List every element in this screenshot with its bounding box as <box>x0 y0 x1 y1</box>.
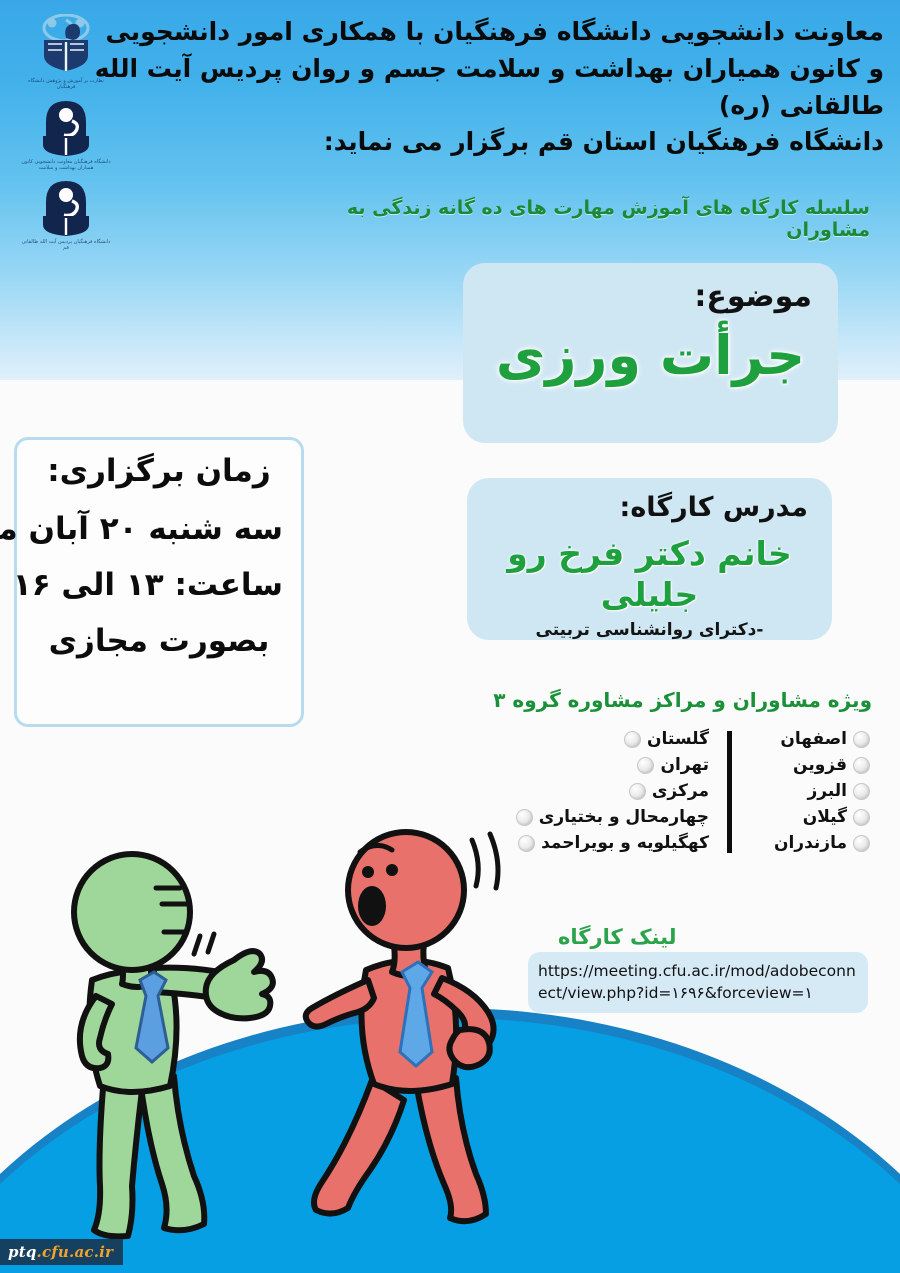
list-item: مازندران <box>750 831 870 855</box>
instructor-card: مدرس کارگاه: خانم دکتر فرخ رو جلیلی -دکت… <box>467 478 832 640</box>
list-item: قزوین <box>750 753 870 777</box>
poster-root: نظارت بر آموزش و پژوهش دانشگاه فرهنگیان … <box>0 0 900 1273</box>
red-person-shouting <box>290 820 550 1270</box>
instructor-degree: -دکترای روانشناسی تربیتی <box>491 620 808 640</box>
green-person-stop-gesture <box>28 840 318 1260</box>
cfu-arch-emblem-icon <box>39 99 93 157</box>
province-name: اصفهان <box>780 729 847 749</box>
header-announcement: معاونت دانشجویی دانشگاه فرهنگیان با همکا… <box>94 14 884 161</box>
header-line-1: معاونت دانشجویی دانشگاه فرهنگیان با همکا… <box>94 14 884 51</box>
list-item: کهگیلویه و بویراحمد <box>524 831 709 855</box>
bullet-circle-icon <box>853 783 870 800</box>
province-name: البرز <box>807 781 847 801</box>
bullet-circle-icon <box>853 757 870 774</box>
bullet-circle-icon <box>853 731 870 748</box>
province-name: قزوین <box>793 755 847 775</box>
header-line-3: دانشگاه فرهنگیان استان قم برگزار می نمای… <box>94 124 884 161</box>
topic-card: موضوع: جرأت ورزی <box>463 263 838 443</box>
bullet-circle-icon <box>624 731 641 748</box>
watermark-part-2: .cfu.ac.ir <box>37 1243 114 1261</box>
list-item: تهران <box>524 753 709 777</box>
list-item: البرز <box>750 779 870 803</box>
province-name: چهارمحال و بختیاری <box>539 807 709 827</box>
bullet-circle-icon <box>629 783 646 800</box>
logo-caption: دانشگاه فرهنگیان پردیس آیت الله طالقانی … <box>18 239 114 252</box>
province-name: گیلان <box>803 807 847 827</box>
instructor-label: مدرس کارگاه: <box>491 490 808 525</box>
schedule-label: زمان برگزاری: <box>35 454 283 488</box>
header-line-2: و کانون همیاران بهداشت و سلامت جسم و روا… <box>94 51 884 125</box>
logo-cfu-pardis: دانشگاه فرهنگیان پردیس آیت الله طالقانی … <box>18 179 114 252</box>
book-emblem-icon <box>30 14 102 76</box>
province-name: تهران <box>660 755 709 775</box>
provinces-column-right: اصفهان قزوین البرز گیلان مازندران <box>750 727 870 855</box>
topic-value: جرأت ورزی <box>489 322 812 390</box>
provinces-list: اصفهان قزوین البرز گیلان مازندران <box>524 727 870 855</box>
workshop-link-box[interactable]: https://meeting.cfu.ac.ir/mod/adobeconne… <box>528 952 868 1013</box>
province-name: مرکزی <box>652 781 709 801</box>
province-name: مازندران <box>774 833 847 853</box>
bullet-circle-icon <box>637 757 654 774</box>
instructor-name: خانم دکتر فرخ رو جلیلی <box>491 533 808 616</box>
workshop-series-title: سلسله کارگاه های آموزش مهارت های ده گانه… <box>310 197 870 241</box>
list-item: اصفهان <box>750 727 870 751</box>
watermark: ptq.cfu.ac.ir <box>0 1239 123 1265</box>
workshop-link-label: لینک کارگاه <box>530 925 860 949</box>
list-item: چهارمحال و بختیاری <box>524 805 709 829</box>
topic-label: موضوع: <box>489 277 812 316</box>
list-item: گلستان <box>524 727 709 751</box>
province-name: کهگیلویه و بویراحمد <box>541 833 709 853</box>
schedule-mode: بصورت مجازی <box>35 624 283 658</box>
schedule-box: زمان برگزاری: سه شنبه ۲۰ آبان ماه ساعت: … <box>14 437 304 727</box>
bullet-circle-icon <box>853 835 870 852</box>
vertical-divider <box>727 731 732 853</box>
schedule-date: سه شنبه ۲۰ آبان ماه <box>35 512 283 546</box>
bullet-circle-icon <box>853 809 870 826</box>
list-item: گیلان <box>750 805 870 829</box>
audience-title: ویژه مشاوران و مراکز مشاوره گروه ۳ <box>452 688 872 712</box>
list-item: مرکزی <box>524 779 709 803</box>
provinces-column-left: گلستان تهران مرکزی چهارمحال و بختیاری که… <box>524 727 709 855</box>
province-name: گلستان <box>647 729 709 749</box>
cfu-arch-emblem-icon <box>39 179 93 237</box>
schedule-hours: ساعت: ۱۳ الی ۱۶ <box>35 568 283 602</box>
workshop-link-url[interactable]: https://meeting.cfu.ac.ir/mod/adobeconne… <box>538 960 858 1005</box>
watermark-part-1: ptq <box>8 1243 37 1261</box>
